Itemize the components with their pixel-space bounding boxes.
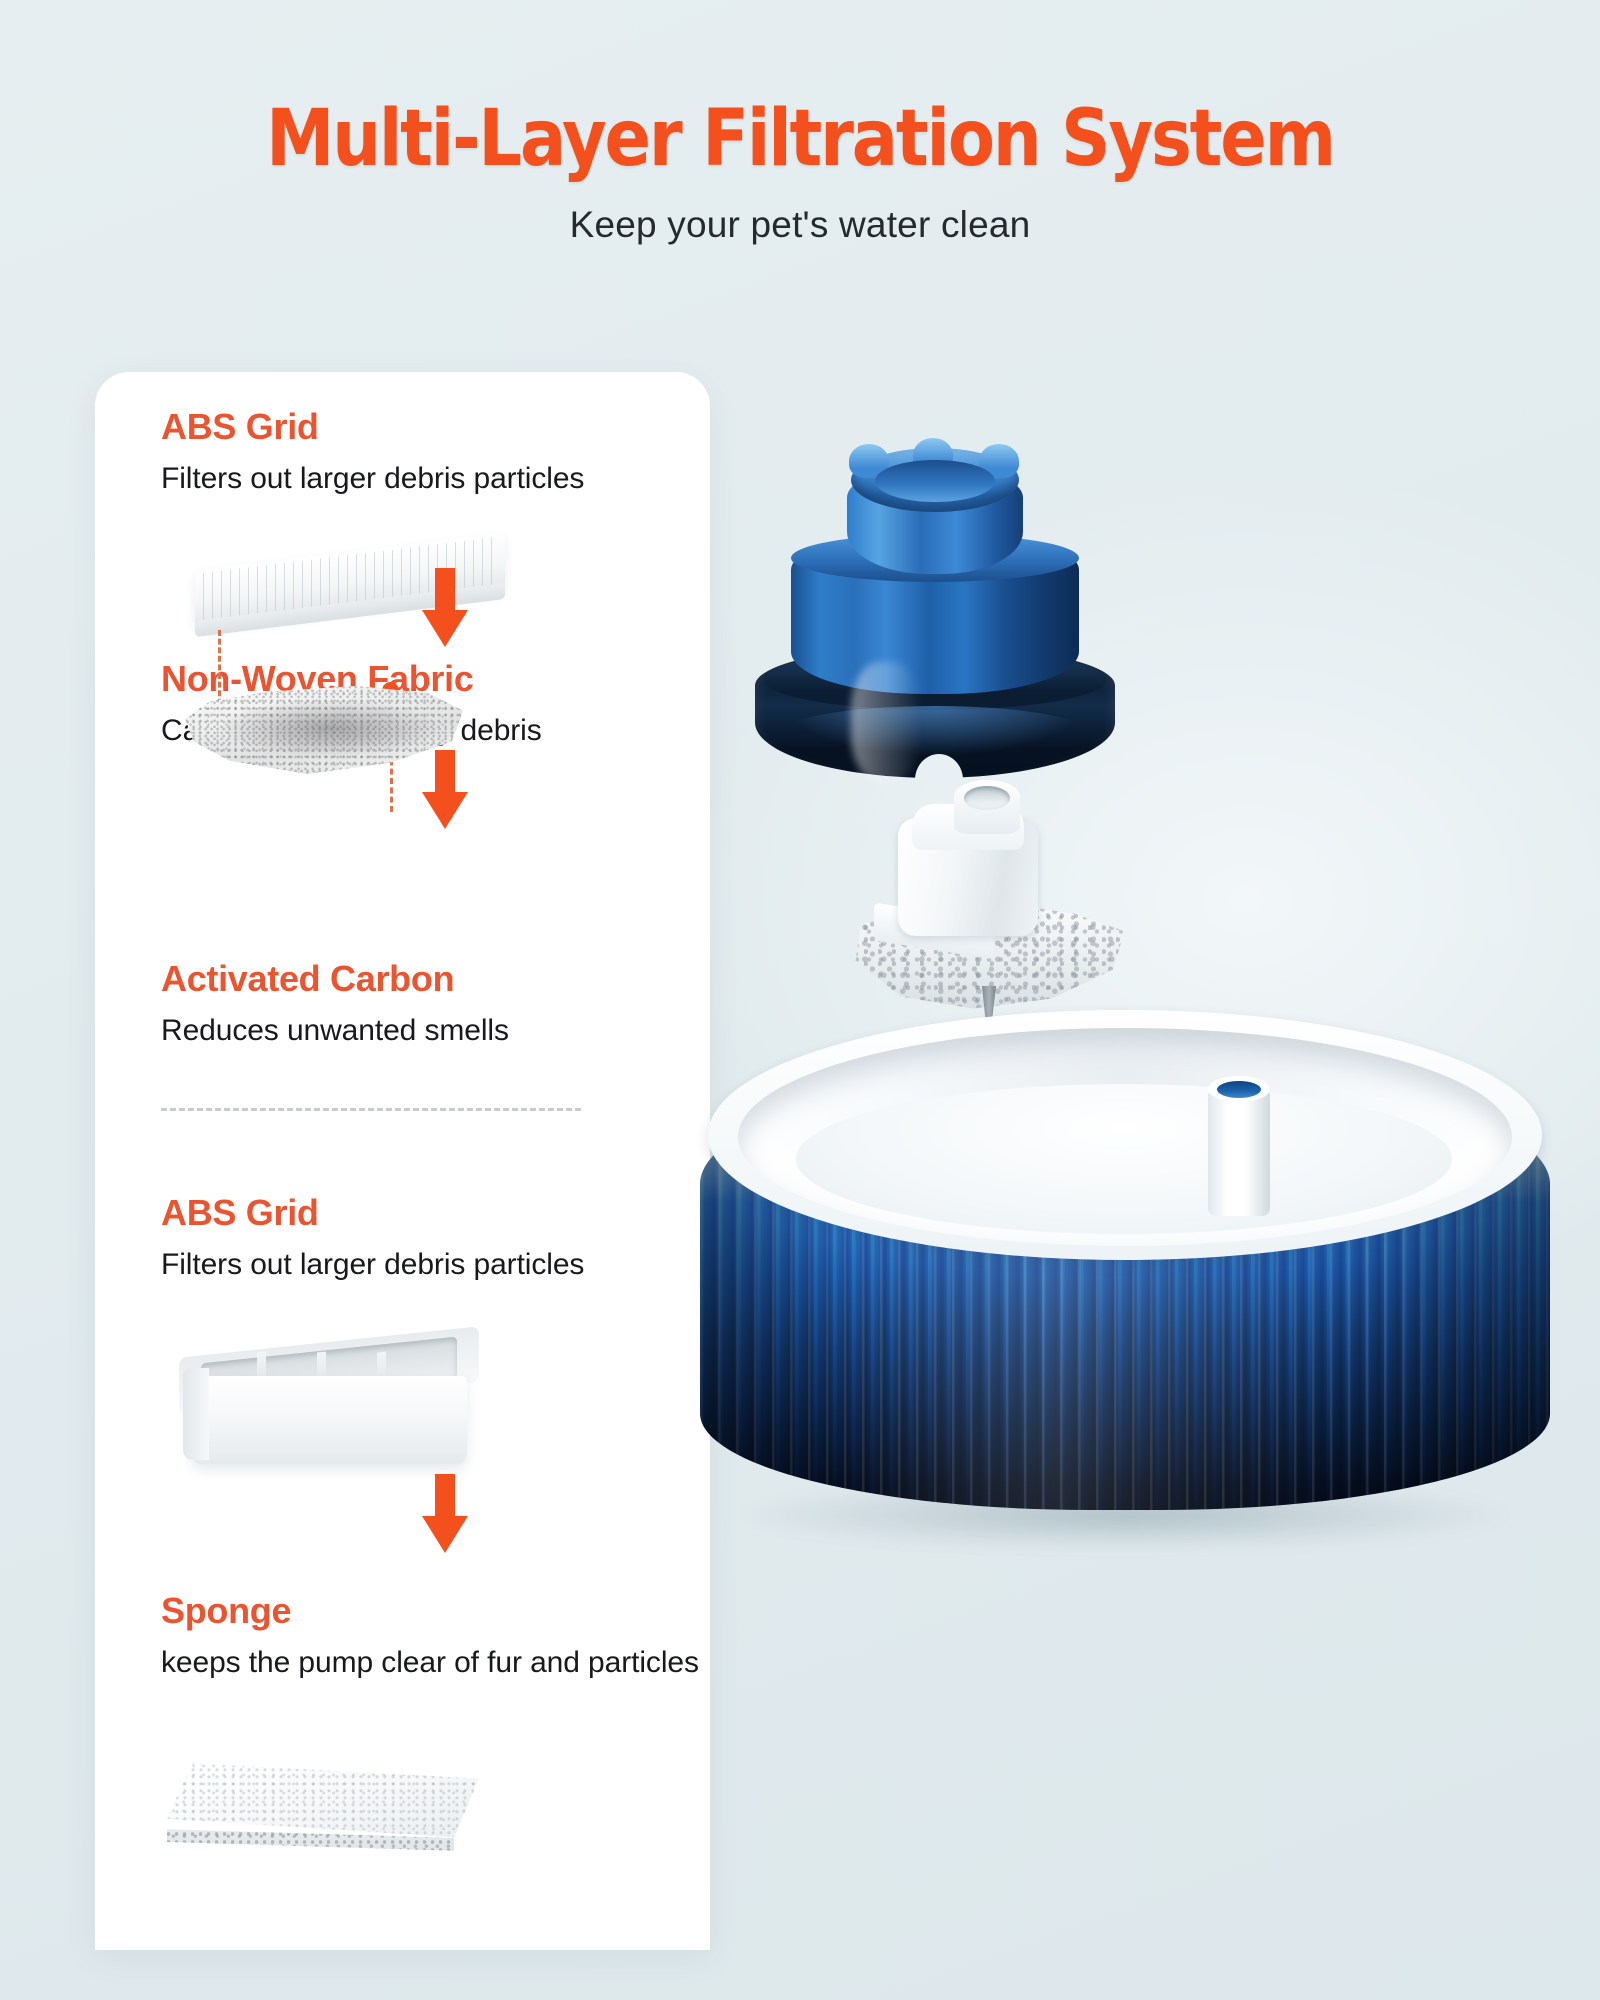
tray-left-face bbox=[183, 1368, 209, 1460]
arrow-down-icon bbox=[422, 1474, 468, 1552]
page-subtitle: Keep your pet's water clean bbox=[0, 204, 1600, 246]
filter-step-sponge: Sponge keeps the pump clear of fur and p… bbox=[95, 1592, 710, 1682]
ceramic-bowl bbox=[700, 1010, 1550, 1570]
filtration-steps-card: ABS Grid Filters out larger debris parti… bbox=[95, 372, 710, 1950]
step-title: Sponge bbox=[161, 1592, 710, 1630]
abs-grid-tray-illustration bbox=[179, 1332, 479, 1472]
step-title: ABS Grid bbox=[161, 408, 710, 446]
tower-base-highlight bbox=[785, 706, 1085, 756]
bowl-riser-opening bbox=[1217, 1081, 1261, 1098]
section-divider bbox=[161, 1108, 581, 1111]
arrow-down-icon bbox=[422, 750, 468, 828]
arrow-down-icon bbox=[422, 568, 468, 646]
filter-step-abs-grid-top: ABS Grid Filters out larger debris parti… bbox=[95, 408, 710, 498]
header: Multi-Layer Filtration System Keep your … bbox=[0, 0, 1600, 246]
step-description: Reduces unwanted smells bbox=[161, 1012, 710, 1050]
step-description: Filters out larger debris particles bbox=[161, 1246, 710, 1284]
page-title: Multi-Layer Filtration System bbox=[96, 100, 1504, 178]
tray-front-face bbox=[191, 1376, 467, 1464]
bowl-floor bbox=[796, 1084, 1452, 1234]
step-title: Non-Woven Fabric bbox=[161, 660, 710, 698]
step-title: ABS Grid bbox=[161, 1194, 710, 1232]
bowl-water-riser bbox=[1208, 1088, 1270, 1216]
filter-step-activated-carbon: Activated Carbon Reduces unwanted smells bbox=[95, 960, 710, 1050]
product-exploded-view bbox=[700, 400, 1560, 1800]
pump-outlet-hole bbox=[964, 786, 1010, 810]
crown-opening bbox=[875, 460, 995, 502]
step-title: Activated Carbon bbox=[161, 960, 710, 998]
tower-crown bbox=[847, 448, 1023, 578]
sponge-pad-illustration bbox=[167, 1760, 479, 1880]
filter-step-abs-grid-tray: ABS Grid Filters out larger debris parti… bbox=[95, 1194, 710, 1284]
step-description: keeps the pump clear of fur and particle… bbox=[161, 1644, 710, 1682]
tower-gloss bbox=[851, 662, 921, 782]
step-description: Filters out larger debris particles bbox=[161, 460, 710, 498]
fountain-tower bbox=[755, 448, 1115, 778]
pump-assembly bbox=[850, 780, 1130, 1020]
